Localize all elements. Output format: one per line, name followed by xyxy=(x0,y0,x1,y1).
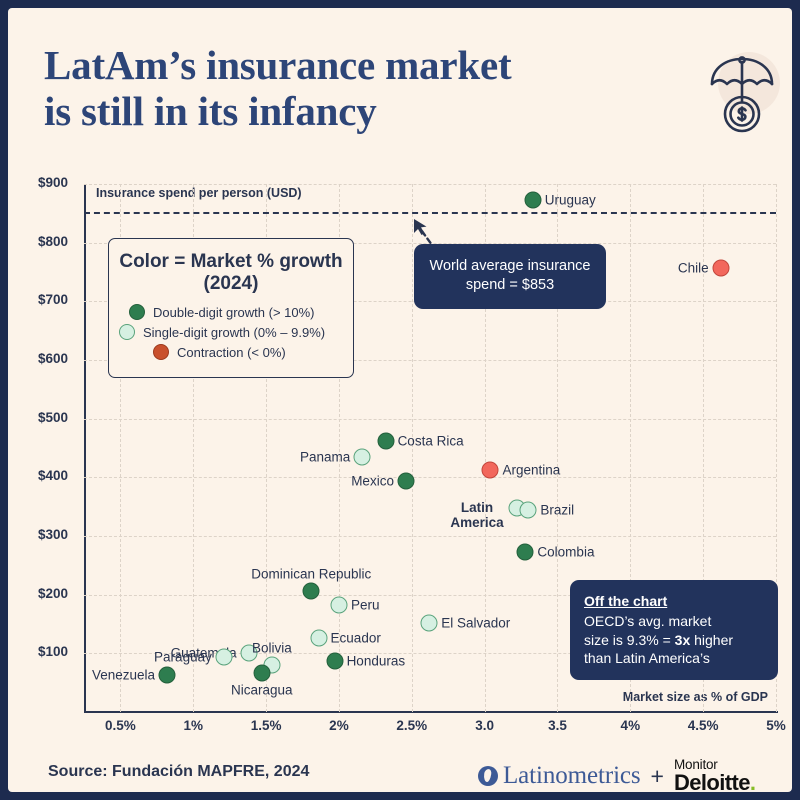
y-axis-tick-label: $600 xyxy=(38,351,68,366)
legend-item-single-digit[interactable]: Single-digit growth (0% – 9.9%) xyxy=(119,324,343,340)
data-point[interactable] xyxy=(303,582,320,599)
latinometrics-logo-text: Latinometrics xyxy=(503,762,641,790)
data-point[interactable] xyxy=(215,649,232,666)
legend-title-line1: Color = Market % xyxy=(119,251,274,272)
y-axis-tick-label: $800 xyxy=(38,234,68,249)
data-point-label: Paraguay xyxy=(154,650,212,665)
callout-oecd-line2a: size is 9.3% = xyxy=(584,632,675,648)
x-axis-tick-label: 3.5 xyxy=(548,718,567,733)
callout-oecd-heading: Off the chart xyxy=(584,592,764,611)
x-axis-tick-label: 4% xyxy=(621,718,641,733)
data-point[interactable] xyxy=(253,665,270,682)
data-point[interactable] xyxy=(397,473,414,490)
logo-row: Latinometrics + Monitor Deloitte. xyxy=(478,756,755,792)
data-point-label: Brazil xyxy=(540,502,574,517)
legend-box: Color = Market % growth (2024) Double-di… xyxy=(108,238,354,378)
y-axis-tick-label: $500 xyxy=(38,410,68,425)
source-note: Source: Fundación MAPFRE, 2024 xyxy=(48,763,309,781)
callout-world-average: World average insurance spend = $853 xyxy=(414,244,606,309)
legend-title-line2: growth xyxy=(279,251,342,272)
x-axis-tick-label: 1.5% xyxy=(251,718,282,733)
x-axis-tick-label: 3.0 xyxy=(475,718,494,733)
y-axis-tick-label: $200 xyxy=(38,586,68,601)
data-point-label: Mexico xyxy=(351,474,394,489)
data-point[interactable] xyxy=(310,630,327,647)
legend-title: Color = Market % growth (2024) xyxy=(119,251,343,295)
infographic-card: LatAm’s insurance marketis still in its … xyxy=(8,8,792,792)
callout-oecd-line3: than Latin America’s xyxy=(584,650,710,666)
data-point[interactable] xyxy=(520,501,537,518)
legend-label-single-digit: Single-digit growth (0% – 9.9%) xyxy=(143,325,325,340)
legend-label-double-digit: Double-digit growth (> 10%) xyxy=(153,305,315,320)
latinometrics-globe-icon xyxy=(478,766,498,786)
gridline-horizontal xyxy=(84,536,776,537)
data-point-label: Bolivia xyxy=(252,641,292,656)
plus-sign: + xyxy=(651,763,664,790)
x-axis-tick-label: 2% xyxy=(329,718,349,733)
data-point-label: Colombia xyxy=(537,545,594,560)
gridline-horizontal xyxy=(84,419,776,420)
page-title: LatAm’s insurance marketis still in its … xyxy=(44,42,664,135)
data-point[interactable] xyxy=(712,259,729,276)
gridline-horizontal xyxy=(84,477,776,478)
data-point[interactable] xyxy=(354,448,371,465)
legend-label-contraction: Contraction (< 0%) xyxy=(177,345,286,360)
data-point[interactable] xyxy=(159,667,176,684)
monitor-deloitte-logo: Monitor Deloitte. xyxy=(674,758,755,792)
data-point-label: Nicaragua xyxy=(231,683,293,698)
legend-swatch-light-green xyxy=(119,324,135,340)
data-point[interactable] xyxy=(482,462,499,479)
y-axis-labels: $100$200$300$400$500$600$700$800$900 xyxy=(8,184,76,712)
deloitte-text: Deloitte xyxy=(674,770,750,792)
legend-item-contraction[interactable]: Contraction (< 0%) xyxy=(119,344,343,360)
data-point-label: Panama xyxy=(300,449,350,464)
umbrella-dollar-icon xyxy=(696,46,788,138)
data-point[interactable] xyxy=(524,192,541,209)
data-point[interactable] xyxy=(421,615,438,632)
y-axis-tick-label: $900 xyxy=(38,175,68,190)
data-point-label: Uruguay xyxy=(545,193,596,208)
y-axis-tick-label: $400 xyxy=(38,468,68,483)
data-point[interactable] xyxy=(330,597,347,614)
x-axis-tick-label: 1% xyxy=(183,718,203,733)
data-point-label: Dominican Republic xyxy=(251,566,371,581)
legend-swatch-red xyxy=(153,344,169,360)
x-axis-tick-label: 4.5% xyxy=(688,718,719,733)
data-point[interactable] xyxy=(326,652,343,669)
legend-year: (2024) xyxy=(119,273,343,295)
deloitte-dot: . xyxy=(750,770,756,792)
y-axis-tick-label: $100 xyxy=(38,644,68,659)
gridline-horizontal xyxy=(84,184,776,185)
x-axis-tick-label: 5% xyxy=(766,718,786,733)
callout-oecd-emphasis: 3x xyxy=(675,632,691,648)
callout-oecd: Off the chart OECD’s avg. market size is… xyxy=(570,580,778,680)
data-point-label: Peru xyxy=(351,598,380,613)
y-axis-tick-label: $700 xyxy=(38,292,68,307)
data-point-label: Costa Rica xyxy=(398,433,464,448)
data-point-label: El Salvador xyxy=(441,616,510,631)
data-point-label: Honduras xyxy=(347,653,406,668)
data-point[interactable] xyxy=(377,432,394,449)
data-point-label: Ecuador xyxy=(331,631,381,646)
callout-oecd-line1: OECD’s avg. market xyxy=(584,613,711,629)
x-axis-tick-label: 0.5% xyxy=(105,718,136,733)
data-point-label: Chile xyxy=(678,260,709,275)
x-axis-tick-label: 2.5% xyxy=(396,718,427,733)
callout-oecd-line2c: higher xyxy=(690,632,733,648)
legend-item-double-digit[interactable]: Double-digit growth (> 10%) xyxy=(119,304,343,320)
data-point-label: LatinAmerica xyxy=(450,500,503,530)
data-point[interactable] xyxy=(517,544,534,561)
legend-swatch-green xyxy=(129,304,145,320)
data-point-label: Argentina xyxy=(502,463,560,478)
data-point-label: Venezuela xyxy=(92,668,155,683)
y-axis-tick-label: $300 xyxy=(38,527,68,542)
